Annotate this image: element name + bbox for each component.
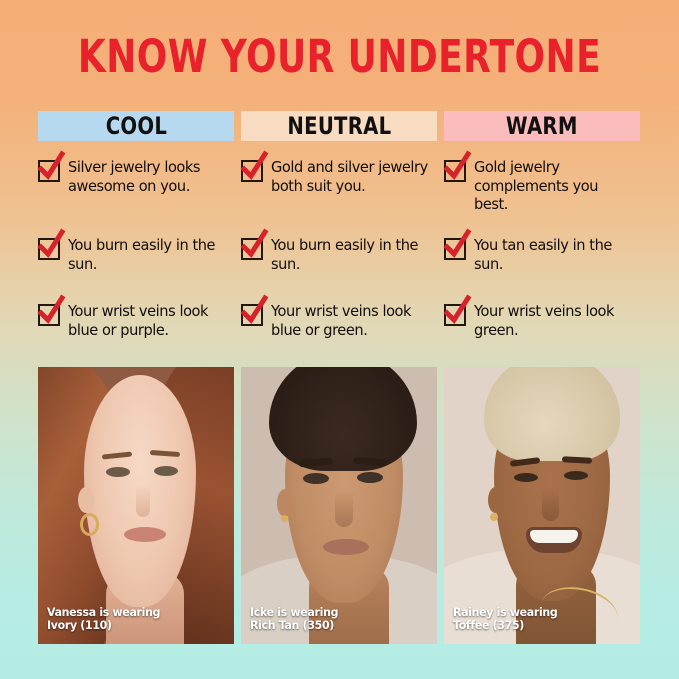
list-item: Your wrist veins look blue or green.: [241, 302, 437, 346]
eye-left: [303, 473, 329, 484]
checklist-neutral: Gold and silver jewelry both suit you. Y…: [241, 158, 437, 346]
checkbox-icon[interactable]: [444, 238, 466, 260]
column-header-warm: WARM: [444, 111, 640, 141]
check-icon: [240, 230, 268, 260]
column-header-label: WARM: [506, 114, 578, 138]
checkbox-icon[interactable]: [38, 238, 60, 260]
lips: [323, 539, 369, 555]
smile: [526, 527, 582, 553]
column-header-label: COOL: [105, 114, 166, 138]
list-item-label: Your wrist veins look blue or purple.: [68, 302, 227, 339]
earring-icon: [80, 513, 99, 536]
list-item: Silver jewelry looks awesome on you.: [38, 158, 234, 220]
nose: [136, 485, 150, 517]
list-item: You burn easily in the sun.: [38, 236, 234, 286]
list-item-label: Gold jewelry complements you best.: [474, 158, 633, 214]
list-item-label: You burn easily in the sun.: [271, 236, 430, 273]
column-cool: COOL Silver jewelry looks awesome on you…: [38, 111, 234, 346]
undertone-infographic: KNOW YOUR UNDERTONE COOL Silver jewelry …: [0, 0, 679, 679]
list-item-label: Gold and silver jewelry both suit you.: [271, 158, 430, 195]
column-header-neutral: NEUTRAL: [241, 111, 437, 141]
checkbox-icon[interactable]: [241, 304, 263, 326]
check-icon: [443, 230, 471, 260]
photo-caption: Icke is wearing Rich Tan (350): [250, 606, 338, 632]
list-item: Your wrist veins look green.: [444, 302, 640, 346]
undertone-columns: COOL Silver jewelry looks awesome on you…: [38, 111, 641, 346]
check-icon: [37, 230, 65, 260]
column-header-cool: COOL: [38, 111, 234, 141]
eye-right: [154, 466, 178, 476]
eye-left: [106, 467, 130, 477]
model-photo-vanessa: Vanessa is wearing Ivory (110): [38, 367, 234, 644]
model-photo-row: Vanessa is wearing Ivory (110) Icke is w…: [38, 367, 641, 644]
list-item: You burn easily in the sun.: [241, 236, 437, 286]
list-item-label: Your wrist veins look green.: [474, 302, 633, 339]
model-photo-rainey: Rainey is wearing Toffee (375): [444, 367, 640, 644]
list-item-label: You tan easily in the sun.: [474, 236, 633, 273]
hair: [484, 367, 620, 461]
list-item: Gold and silver jewelry both suit you.: [241, 158, 437, 220]
check-icon: [37, 152, 65, 182]
check-icon: [37, 296, 65, 326]
check-icon: [240, 296, 268, 326]
column-neutral: NEUTRAL Gold and silver jewelry both sui…: [241, 111, 437, 346]
earring-icon: [281, 515, 288, 522]
eye-right: [564, 471, 588, 480]
ear: [488, 487, 503, 513]
list-item: You tan easily in the sun.: [444, 236, 640, 286]
checkbox-icon[interactable]: [38, 304, 60, 326]
checklist-cool: Silver jewelry looks awesome on you. You…: [38, 158, 234, 346]
column-warm: WARM Gold jewelry complements you best.: [444, 111, 640, 346]
list-item: Gold jewelry complements you best.: [444, 158, 640, 220]
checkbox-icon[interactable]: [38, 160, 60, 182]
lips: [124, 527, 166, 542]
check-icon: [240, 152, 268, 182]
checkbox-icon[interactable]: [444, 160, 466, 182]
page-title: KNOW YOUR UNDERTONE: [68, 34, 611, 80]
checkbox-icon[interactable]: [241, 238, 263, 260]
photo-caption: Vanessa is wearing Ivory (110): [47, 606, 160, 632]
column-header-label: NEUTRAL: [287, 114, 391, 138]
checkbox-icon[interactable]: [444, 304, 466, 326]
ear: [277, 489, 293, 517]
photo-caption: Rainey is wearing Toffee (375): [453, 606, 557, 632]
eye-right: [357, 472, 383, 483]
ear: [78, 487, 94, 513]
check-icon: [443, 152, 471, 182]
list-item-label: Silver jewelry looks awesome on you.: [68, 158, 227, 195]
check-icon: [443, 296, 471, 326]
nose: [542, 487, 559, 521]
earring-icon: [490, 513, 498, 521]
model-photo-icke: Icke is wearing Rich Tan (350): [241, 367, 437, 644]
hair: [269, 367, 417, 471]
checklist-warm: Gold jewelry complements you best. You t…: [444, 158, 640, 346]
list-item-label: You burn easily in the sun.: [68, 236, 227, 273]
eye-left: [514, 473, 538, 482]
list-item-label: Your wrist veins look blue or green.: [271, 302, 430, 339]
checkbox-icon[interactable]: [241, 160, 263, 182]
list-item: Your wrist veins look blue or purple.: [38, 302, 234, 346]
nose: [335, 491, 353, 527]
